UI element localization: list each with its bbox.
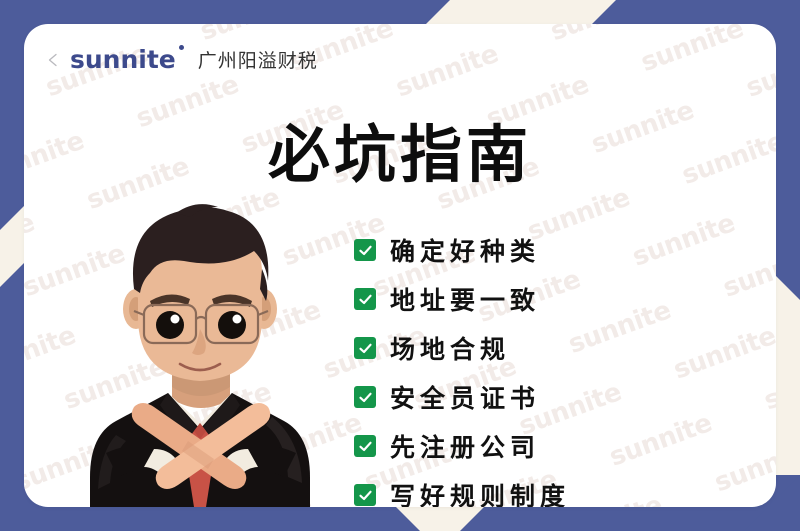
checklist-item: 写好规则制度 <box>354 477 570 507</box>
check-icon <box>354 337 376 359</box>
checklist-item-label: 先注册公司 <box>390 428 540 464</box>
checklist: 确定好种类地址要一致场地合规安全员证书先注册公司写好规则制度 <box>354 232 570 507</box>
watermark-text: sunnite <box>670 321 776 386</box>
watermark-text: sunnite <box>565 295 675 360</box>
watermark-text: sunnite <box>606 408 716 473</box>
checklist-item-label: 地址要一致 <box>390 281 540 317</box>
checklist-item-label: 写好规则制度 <box>390 477 570 507</box>
watermark-text: sunnite <box>24 320 80 385</box>
checklist-item: 地址要一致 <box>354 281 570 317</box>
checklist-item: 安全员证书 <box>354 379 570 415</box>
back-button[interactable] <box>46 53 60 67</box>
checklist-item: 场地合规 <box>354 330 570 366</box>
chevron-left-icon <box>46 53 60 67</box>
businessman-crossed-arms-illustration <box>76 177 326 507</box>
watermark-text: sunnite <box>629 208 739 273</box>
checklist-item-label: 确定好种类 <box>390 232 540 268</box>
watermark-text: sunnite <box>196 24 306 47</box>
header: sunnite 广州阳溢财税 <box>46 46 318 73</box>
watermark-text: sunnite <box>742 39 776 104</box>
check-icon <box>354 484 376 506</box>
watermark-text: sunnite <box>760 352 776 417</box>
check-icon <box>354 386 376 408</box>
checklist-item: 确定好种类 <box>354 232 570 268</box>
checklist-item-label: 安全员证书 <box>390 379 540 415</box>
brand-logo-text: sunnite <box>70 45 176 74</box>
watermark-text: sunnite <box>711 434 776 499</box>
watermark-text: sunnite <box>719 239 776 304</box>
watermark-text: sunnite <box>392 39 502 104</box>
brand-name-cn: 广州阳溢财税 <box>198 46 318 73</box>
watermark-text: sunnite <box>24 208 39 273</box>
checklist-item-label: 场地合规 <box>390 330 510 366</box>
watermark-text: sunnite <box>546 24 656 47</box>
content-card: sunnitesunnitesunnitesunnitesunnitesunni… <box>24 24 776 507</box>
brand-logo-dot <box>179 45 184 50</box>
brand-logo: sunnite <box>70 47 176 72</box>
poster-root: sunnitesunnitesunnitesunnitesunnitesunni… <box>0 0 800 531</box>
watermark-text: sunnite <box>637 24 747 78</box>
checklist-item: 先注册公司 <box>354 428 570 464</box>
check-icon <box>354 288 376 310</box>
watermark-text: sunnite <box>556 490 666 507</box>
check-icon <box>354 435 376 457</box>
check-icon <box>354 239 376 261</box>
page-title: 必坑指南 <box>24 124 776 186</box>
